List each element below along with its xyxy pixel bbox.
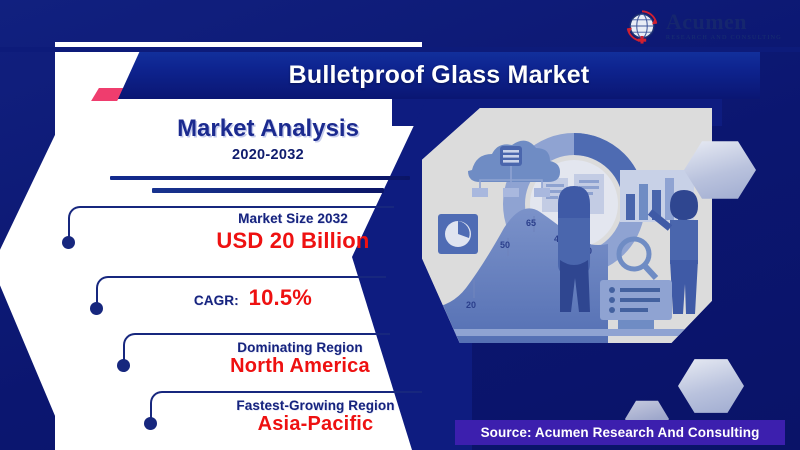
divider-primary [110, 176, 410, 180]
logo-name: Acumen [666, 11, 782, 33]
header-underline [0, 47, 800, 52]
stat-label: CAGR: [194, 293, 239, 308]
source-text: Source: Acumen Research And Consulting [481, 425, 760, 440]
analysis-heading: Market Analysis [118, 115, 418, 143]
stat-label: Fastest-Growing Region [198, 398, 433, 413]
brand-logo[interactable]: Acumen RESEARCH AND CONSULTING [623, 5, 782, 47]
stat-value: Asia-Pacific [198, 413, 433, 436]
divider-secondary [152, 188, 384, 193]
logo-text: Acumen RESEARCH AND CONSULTING [666, 11, 782, 41]
stat-fastest-growing-region: Fastest-Growing Region Asia-Pacific [198, 398, 433, 436]
analysis-period: 2020-2032 [118, 147, 418, 163]
globe-icon [623, 7, 661, 45]
svg-text:50: 50 [500, 240, 510, 250]
logo-tagline: RESEARCH AND CONSULTING [666, 35, 782, 41]
business-analytics-illustration: 10 20 50 65 45 30 [422, 108, 712, 343]
infographic-canvas: 10 20 50 65 45 30 [0, 0, 800, 450]
stat-value: USD 20 Billion [168, 228, 418, 254]
source-banner: Source: Acumen Research And Consulting [455, 420, 785, 445]
stat-cagr: CAGR: 10.5% [128, 285, 378, 311]
stat-value: 10.5% [249, 285, 312, 311]
header-title-bar: Bulletproof Glass Market [118, 51, 760, 99]
svg-text:65: 65 [526, 218, 536, 228]
stat-dominating-region: Dominating Region North America [180, 340, 420, 378]
stat-value: North America [180, 355, 420, 378]
stat-market-size: Market Size 2032 USD 20 Billion [168, 211, 418, 254]
stat-label: Dominating Region [180, 340, 420, 355]
page-title: Bulletproof Glass Market [289, 61, 590, 90]
svg-text:20: 20 [466, 300, 476, 310]
stat-label: Market Size 2032 [168, 211, 418, 226]
